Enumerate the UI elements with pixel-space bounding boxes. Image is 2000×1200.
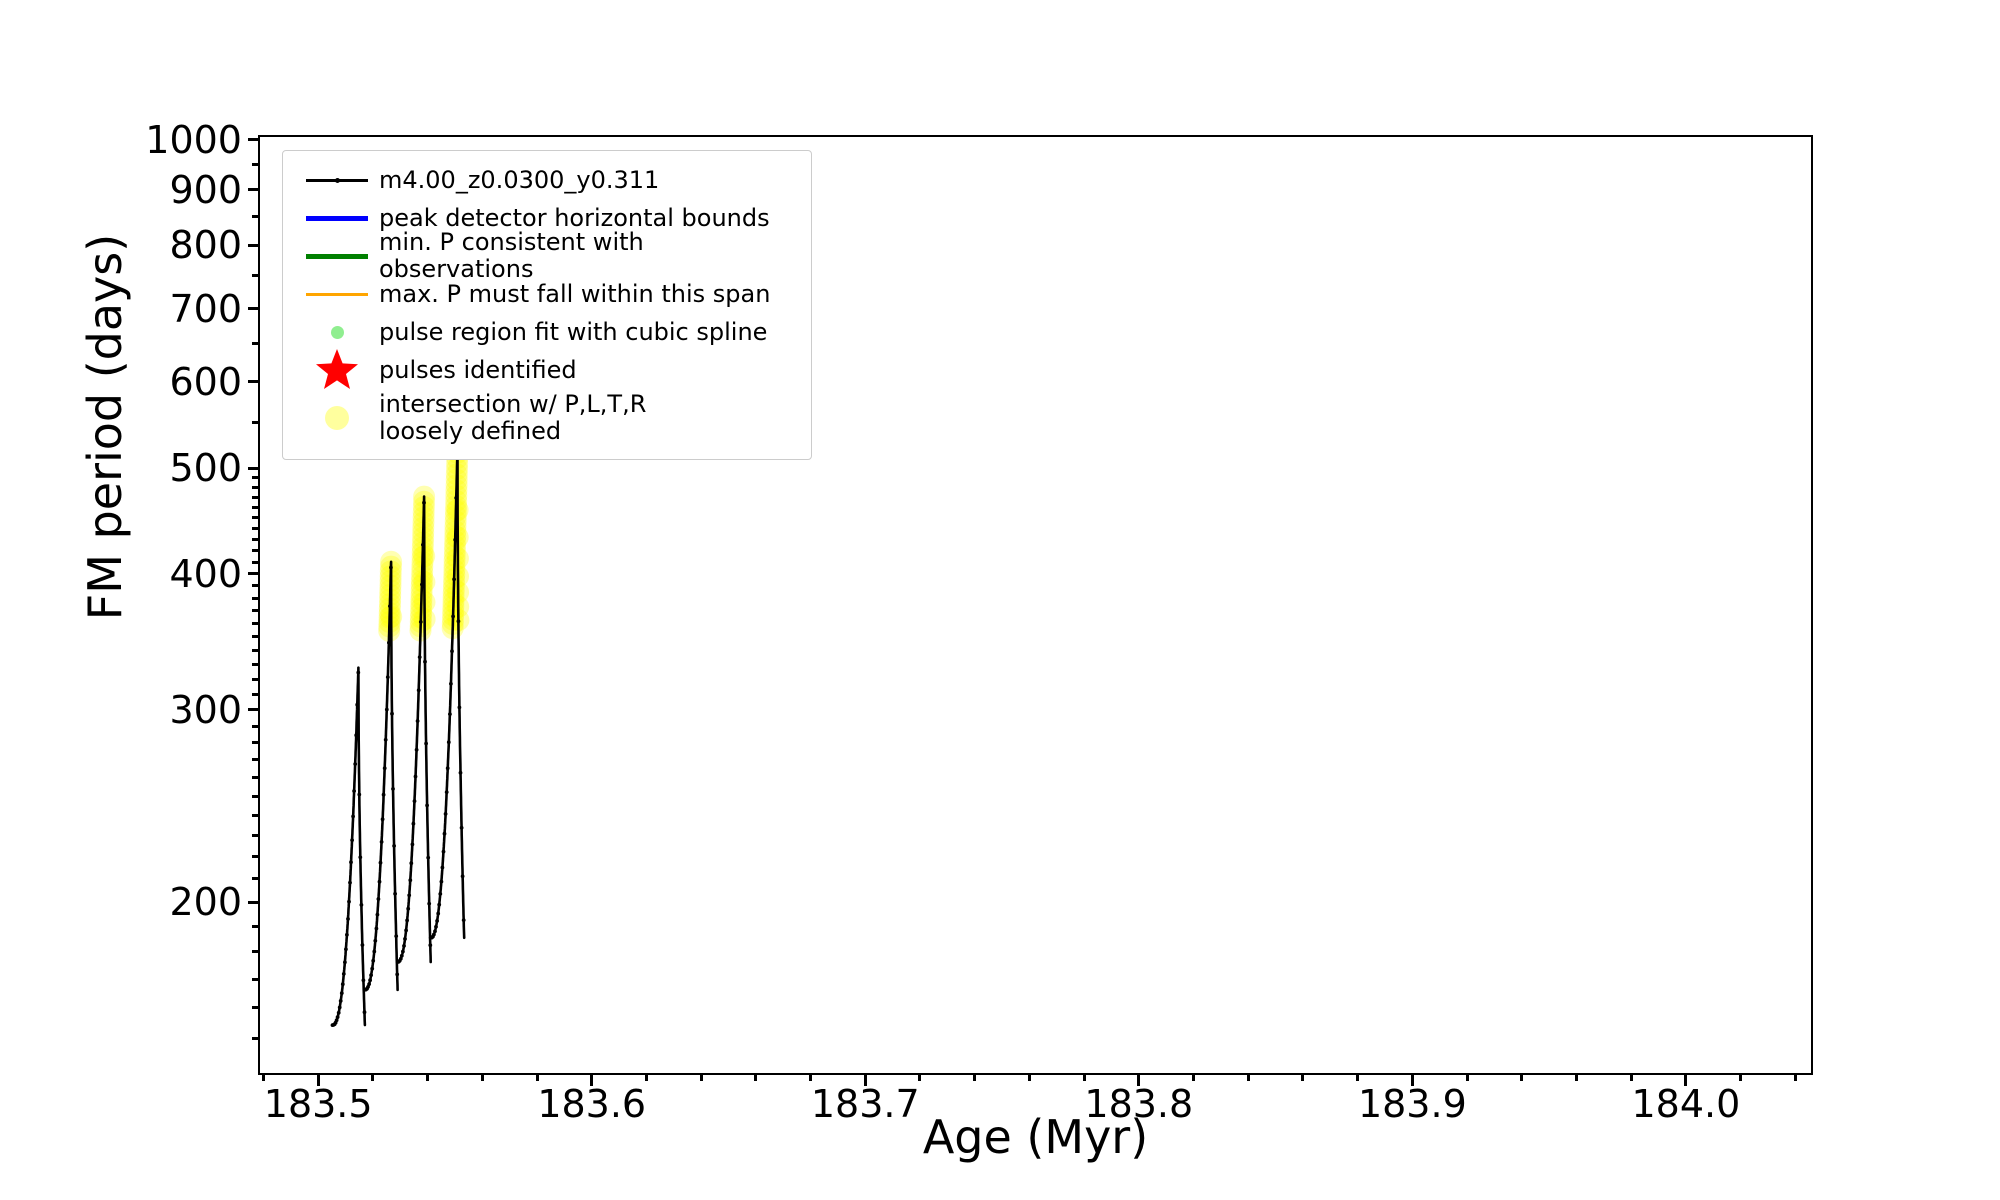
x-tick-label: 183.5 — [208, 1082, 428, 1126]
legend-label: pulses identified — [379, 357, 577, 384]
y-tick-label: 900 — [82, 168, 242, 212]
y-tick-label: 500 — [82, 446, 242, 490]
legend-entry-min-period[interactable]: min. P consistent with observations — [295, 237, 799, 275]
orange-line-swatch-icon — [295, 275, 379, 313]
blue-line-swatch-icon — [295, 199, 379, 237]
yellow-dot-swatch-icon — [295, 399, 379, 437]
legend-entry-pulses[interactable]: pulses identified — [295, 351, 799, 389]
green-line-swatch-icon — [295, 237, 379, 275]
line-marker-swatch-icon — [295, 161, 379, 199]
y-tick-label: 1000 — [82, 118, 242, 162]
x-tick-label: 183.6 — [482, 1082, 702, 1126]
y-tick-label: 800 — [82, 223, 242, 267]
legend-label: min. P consistent with observations — [379, 229, 799, 283]
x-tick-label: 183.9 — [1302, 1082, 1522, 1126]
legend-entry-model[interactable]: m4.00_z0.0300_y0.311 — [295, 161, 799, 199]
y-tick-label: 600 — [82, 360, 242, 404]
chart-legend: m4.00_z0.0300_y0.311 peak detector horiz… — [282, 150, 812, 460]
red-star-swatch-icon — [295, 351, 379, 389]
legend-entry-intersection[interactable]: intersection w/ P,L,T,R loosely defined — [295, 389, 799, 447]
legend-entry-max-period[interactable]: max. P must fall within this span — [295, 275, 799, 313]
figure-canvas: FM period (days) Age (Myr) 2003004005006… — [0, 0, 2000, 1200]
legend-entry-spline[interactable]: pulse region fit with cubic spline — [295, 313, 799, 351]
y-tick-label: 700 — [82, 287, 242, 331]
green-dot-swatch-icon — [295, 313, 379, 351]
x-tick-label: 184.0 — [1576, 1082, 1796, 1126]
legend-label: intersection w/ P,L,T,R loosely defined — [379, 391, 646, 445]
legend-label: max. P must fall within this span — [379, 281, 770, 308]
y-tick-label: 300 — [82, 688, 242, 732]
x-tick-label: 183.8 — [1029, 1082, 1249, 1126]
y-tick-label: 200 — [82, 880, 242, 924]
legend-label: m4.00_z0.0300_y0.311 — [379, 167, 659, 194]
x-tick-label: 183.7 — [755, 1082, 975, 1126]
legend-label: pulse region fit with cubic spline — [379, 319, 767, 346]
y-tick-label: 400 — [82, 552, 242, 596]
